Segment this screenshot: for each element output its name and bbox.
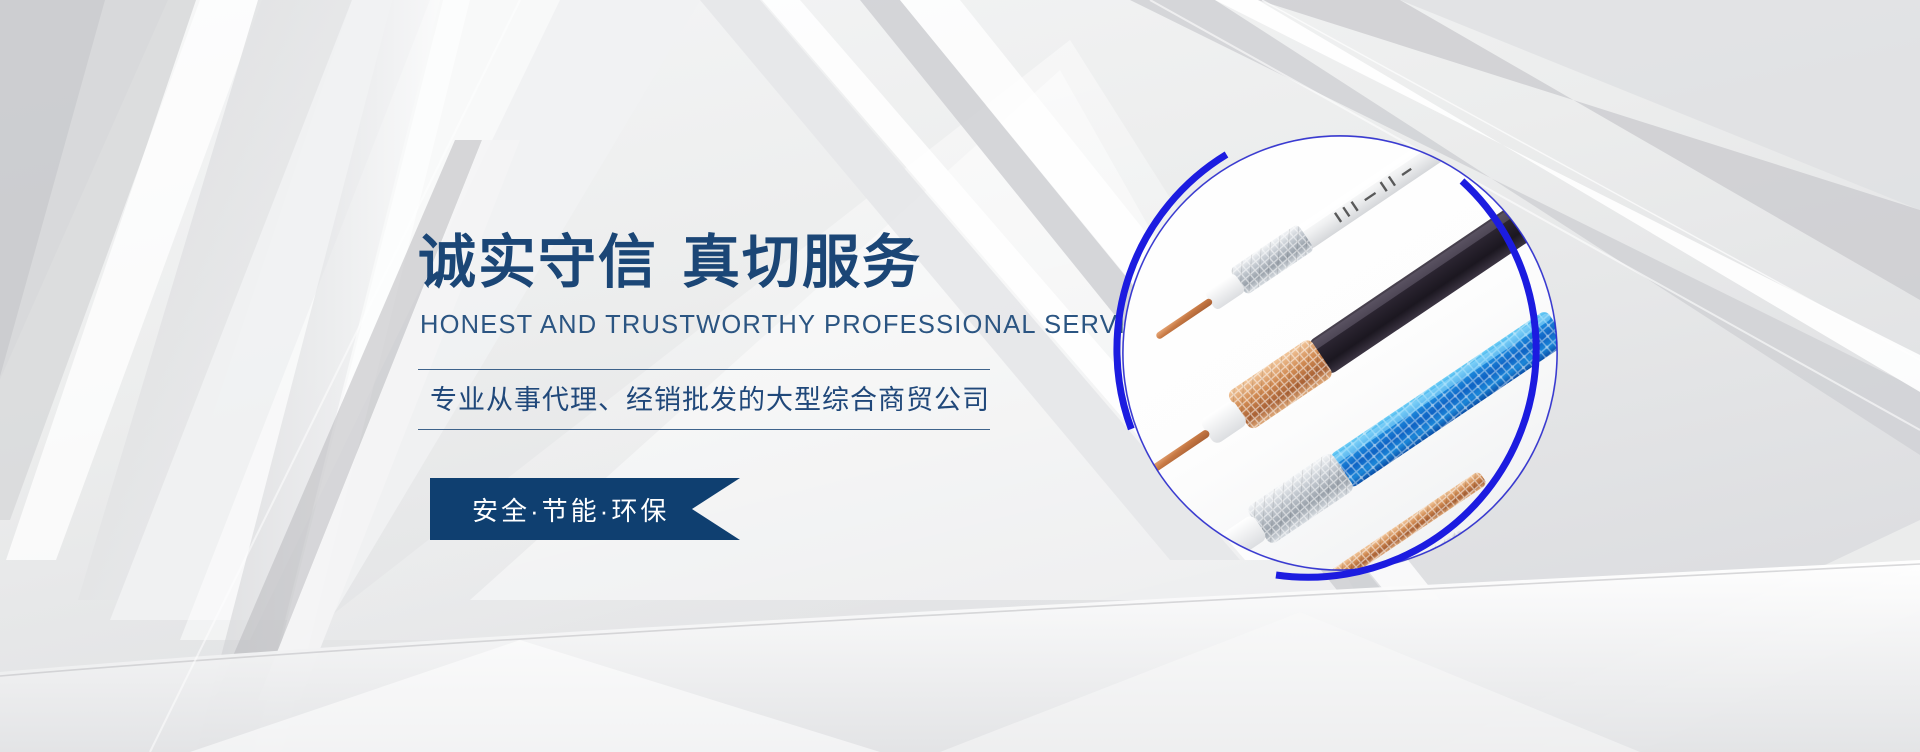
hero-text-block: 诚实守信真切服务 HONEST AND TRUSTWORTHY PROFESSI… bbox=[418, 232, 1058, 430]
product-circle bbox=[1105, 118, 1575, 588]
tagline-group: 专业从事代理、经销批发的大型综合商贸公司 bbox=[418, 369, 990, 431]
badge-label: 安全·节能·环保 bbox=[430, 478, 740, 540]
headline-part-1: 诚实守信 bbox=[418, 230, 658, 295]
feature-badge[interactable]: 安全·节能·环保 bbox=[430, 478, 740, 540]
inner-thin-ring bbox=[1123, 136, 1557, 570]
decorative-arc-ring bbox=[1105, 118, 1575, 588]
hero-banner: 诚实守信真切服务 HONEST AND TRUSTWORTHY PROFESSI… bbox=[0, 0, 1920, 752]
outer-arc-upper-left bbox=[1117, 155, 1227, 430]
outer-arc-right-bottom bbox=[1276, 181, 1536, 577]
headline-part-2: 真切服务 bbox=[682, 230, 922, 295]
tagline-rule-bottom bbox=[418, 429, 990, 430]
page-title: 诚实守信真切服务 bbox=[418, 232, 1058, 295]
headline-english-subtitle: HONEST AND TRUSTWORTHY PROFESSIONAL SERV… bbox=[420, 311, 1058, 339]
tagline-text: 专业从事代理、经销批发的大型综合商贸公司 bbox=[418, 370, 990, 430]
tagline-rule-top bbox=[418, 369, 990, 370]
